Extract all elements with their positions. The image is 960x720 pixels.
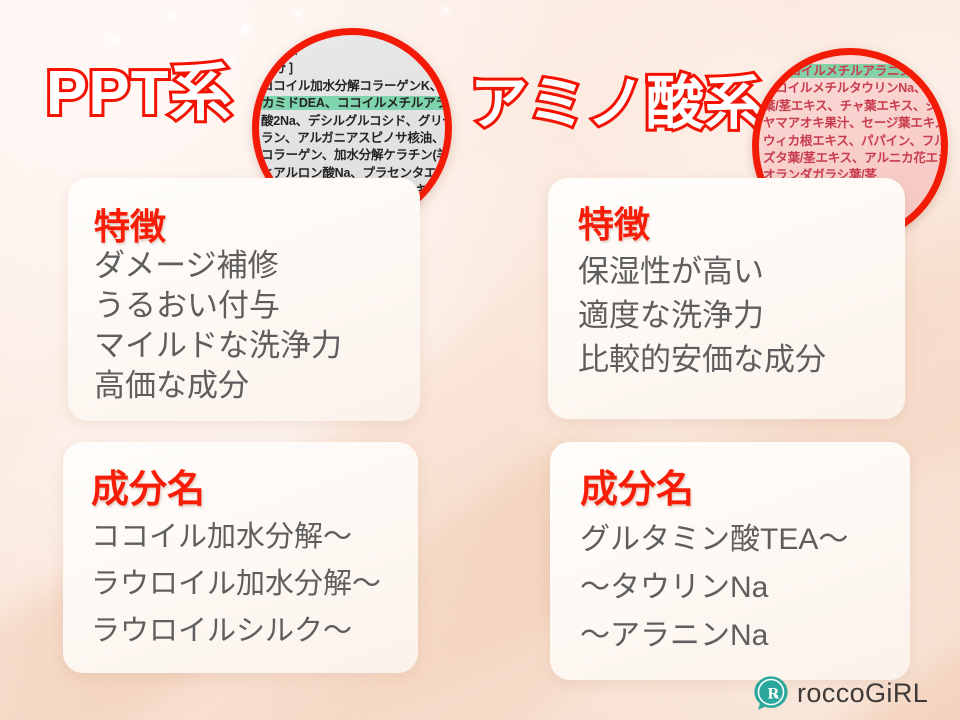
list-item: マイルドな洗浄力	[94, 326, 342, 366]
label-text-line: ウィカ根エキス、パパイン、フルボ酸、グ	[763, 133, 941, 150]
label-text-line: 成分 ]	[261, 60, 445, 77]
list-item: 比較的安価な成分	[578, 338, 826, 382]
list-item: ラウロイルシルク〜	[91, 608, 381, 655]
list-item: 〜アラニンNa	[580, 612, 848, 660]
label-text-line: ココイルメチルタウリンNa、ホホバ種	[763, 80, 941, 97]
label-text-line: ラウロイルメチルアラニンNa、	[763, 63, 941, 80]
section-title-ppt: PPT系	[46, 42, 233, 132]
card-title-features-amino: 特徴	[578, 196, 650, 248]
label-text-line: ズタ葉/茎エキス、アルニカ花エキ	[763, 150, 941, 167]
list-item: グルタミン酸TEA〜	[580, 516, 848, 564]
label-text-line: 葉/茎エキス、チャ葉エキス、シャクヤク根	[763, 98, 941, 115]
list-item: ココイル加水分解〜	[91, 514, 381, 561]
list-item: 保湿性が高い	[578, 250, 826, 294]
list-item: うるおい付与	[94, 286, 342, 326]
brand-logo: R roccoGiRL	[752, 674, 928, 712]
ingredient-name-list-ppt: ココイル加水分解〜ラウロイル加水分解〜ラウロイルシルク〜	[91, 514, 381, 655]
list-item: 高価な成分	[94, 366, 342, 406]
green-highlight-mark: カミドDEA、ココイルメチルアラニン	[261, 96, 452, 110]
label-text-line: ココイル加水分解コラーゲンK、	[261, 78, 445, 95]
label-text-line: 細かな	[261, 43, 445, 60]
label-text-line: ヤマアオキ果汁、セージ葉エキス、カニナ	[763, 115, 941, 132]
label-text-line: コラーゲン、加水分解ケラチン(羊毛)、	[261, 147, 445, 164]
brand-name-text: roccoGiRL	[797, 678, 928, 709]
card-title-features-ppt: 特徴	[94, 198, 166, 250]
card-ppt-features: 特徴 ダメージ補修うるおい付与マイルドな洗浄力高価な成分	[68, 178, 420, 421]
brand-mark-letter: R	[768, 685, 780, 702]
ingredient-name-list-amino: グルタミン酸TEA〜〜タウリンNa〜アラニンNa	[580, 516, 848, 660]
sparkle-dot	[296, 12, 300, 16]
feature-list-ppt: ダメージ補修うるおい付与マイルドな洗浄力高価な成分	[94, 246, 342, 406]
list-item: 適度な洗浄力	[578, 294, 826, 338]
sparkle-star: ✦	[236, 20, 254, 42]
label-text-line: ラン、アルガニアスピノサ核油、ツバ	[261, 130, 445, 147]
feature-list-amino: 保湿性が高い適度な洗浄力比較的安価な成分	[578, 250, 826, 382]
list-item: ラウロイル加水分解〜	[91, 561, 381, 608]
sparkle-dot	[444, 8, 448, 12]
list-item: 〜タウリンNa	[580, 564, 848, 612]
sparkle-dot	[168, 14, 172, 18]
card-amino-features: 特徴 保湿性が高い適度な洗浄力比較的安価な成分	[548, 178, 905, 419]
card-title-names-amino: 成分名	[580, 458, 694, 513]
card-amino-ingredient-names: 成分名 グルタミン酸TEA〜〜タウリンNa〜アラニンNa	[550, 442, 910, 680]
card-title-names-ppt: 成分名	[91, 458, 205, 513]
list-item: ダメージ補修	[94, 246, 342, 286]
green-highlight-mark: ラウロイルメチルアラニンNa、	[763, 64, 940, 78]
label-text-line: 酸2Na、デシルグルコシド、グリセリン	[261, 113, 445, 130]
label-text-line: カミドDEA、ココイルメチルアラニン	[261, 95, 445, 112]
infographic-canvas: ✦ ✦ ✦ ✦ PPT系 アミノ酸系 細かな成分 ]ココイル加水分解コラーゲンK…	[0, 0, 960, 720]
card-ppt-ingredient-names: 成分名 ココイル加水分解〜ラウロイル加水分解〜ラウロイルシルク〜	[63, 442, 418, 673]
section-title-amino: アミノ酸系	[470, 56, 764, 140]
rocco-speech-bubble-icon: R	[752, 674, 790, 712]
